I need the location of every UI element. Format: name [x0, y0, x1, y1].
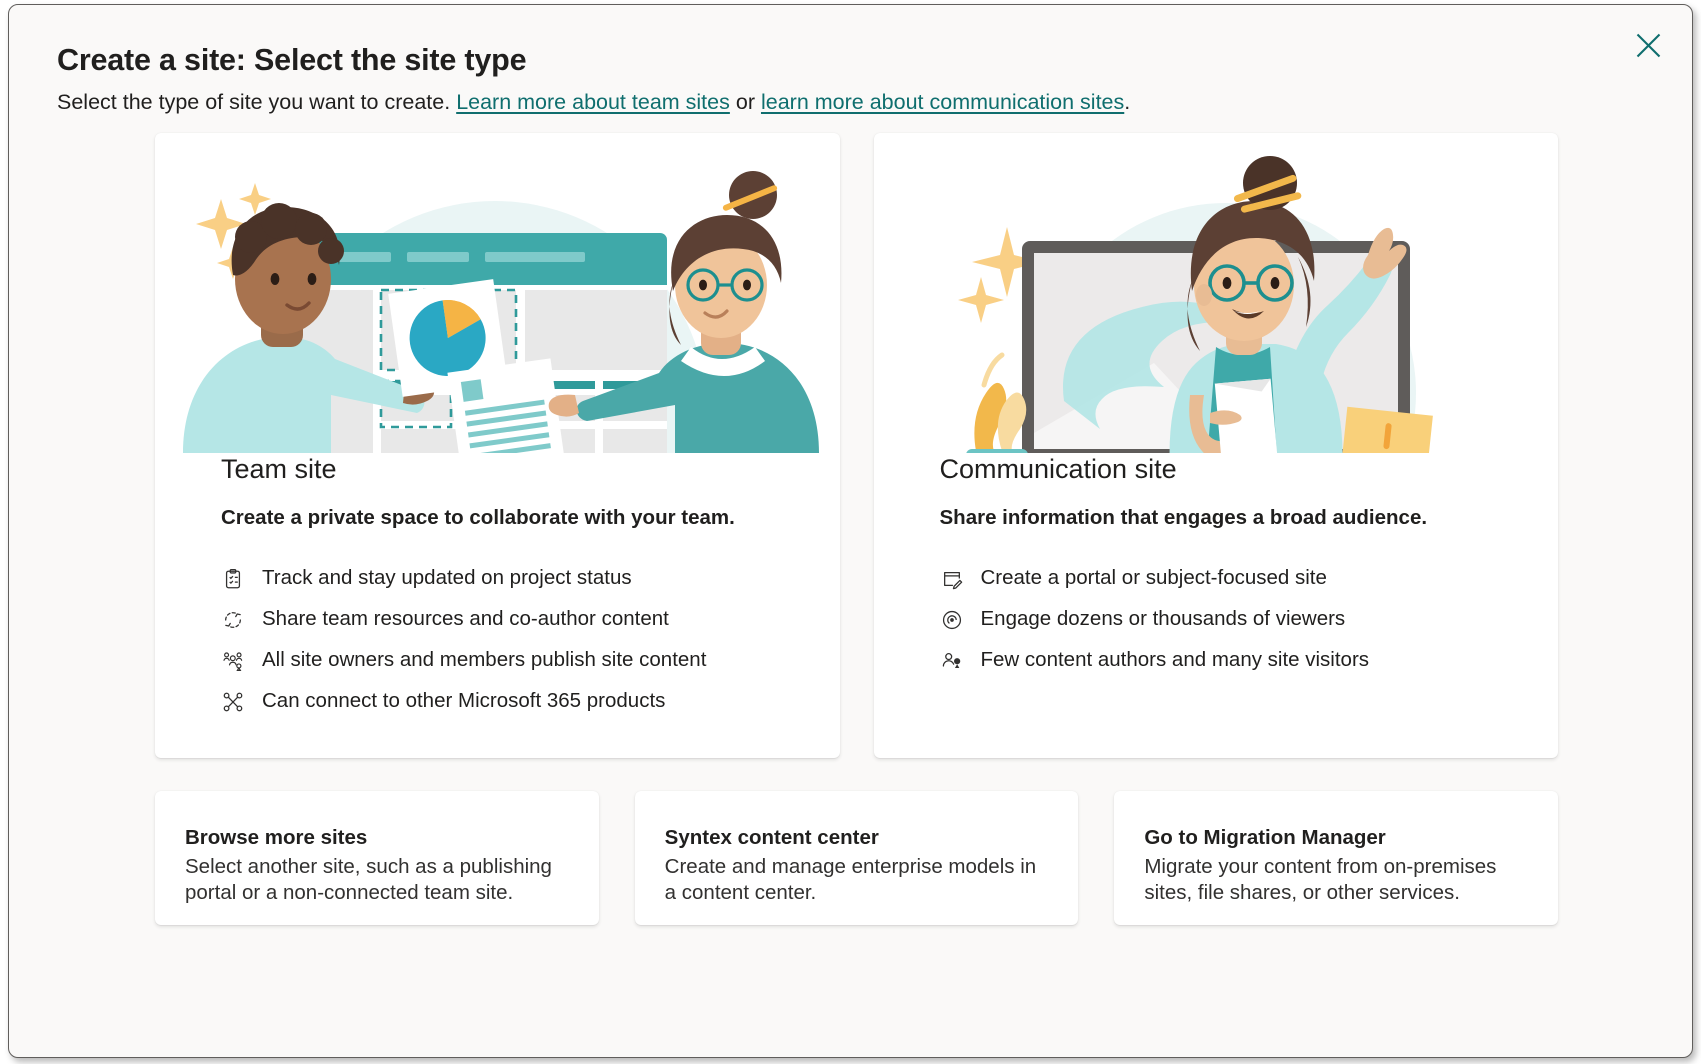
feature-list-communication-site: Create a portal or subject-focused site …: [940, 558, 1493, 681]
communication-site-card-body: Communication site Share information tha…: [874, 453, 1559, 681]
link-card-title: Go to Migration Manager: [1144, 825, 1528, 851]
team-site-illustration-wrap: [155, 133, 840, 453]
feature-label: Share team resources and co-author conte…: [262, 607, 669, 632]
link-card-title: Syntex content center: [665, 825, 1049, 851]
link-learn-more-team-sites[interactable]: Learn more about team sites: [456, 90, 730, 114]
connector-nodes-icon: [221, 690, 245, 714]
feature-item: Create a portal or subject-focused site: [940, 558, 1493, 599]
link-card-description: Create and manage enterprise models in a…: [665, 854, 1049, 906]
close-button[interactable]: [1624, 21, 1672, 69]
feature-label: Few content authors and many site visito…: [981, 648, 1370, 673]
dialog-header: Create a site: Select the site type Sele…: [57, 41, 1602, 117]
feature-label: All site owners and members publish site…: [262, 648, 706, 673]
feature-item: Few content authors and many site visito…: [940, 640, 1493, 681]
feature-list-team-site: Track and stay updated on project status: [221, 558, 774, 722]
feature-item: Can connect to other Microsoft 365 produ…: [221, 681, 774, 722]
feature-item: Share team resources and co-author conte…: [221, 599, 774, 640]
presenter-monitor-illustration: [874, 133, 1558, 453]
feature-item: Engage dozens or thousands of viewers: [940, 599, 1493, 640]
link-card-description: Migrate your content from on-premises si…: [1144, 854, 1528, 906]
dialog-subtitle: Select the type of site you want to crea…: [57, 88, 1602, 117]
feature-label: Can connect to other Microsoft 365 produ…: [262, 689, 665, 714]
link-card-title: Browse more sites: [185, 825, 569, 851]
site-type-card-row: Team site Create a private space to coll…: [155, 133, 1558, 758]
feature-item: Track and stay updated on project status: [221, 558, 774, 599]
page-title: Create a site: Select the site type: [57, 41, 1602, 79]
link-card-browse-more-sites[interactable]: Browse more sites Select another site, s…: [155, 791, 599, 925]
card-title-communication-site: Communication site: [940, 453, 1493, 485]
card-title-team-site: Team site: [221, 453, 774, 485]
subtitle-period: .: [1124, 90, 1130, 114]
subtitle-text: Select the type of site you want to crea…: [57, 90, 450, 114]
site-card-team-site[interactable]: Team site Create a private space to coll…: [155, 133, 840, 758]
broadcast-icon: [940, 608, 964, 632]
sync-circular-icon: [221, 608, 245, 632]
communication-site-illustration-wrap: [874, 133, 1559, 453]
card-tagline-communication-site: Share information that engages a broad a…: [940, 505, 1493, 532]
link-card-description: Select another site, such as a publishin…: [185, 854, 569, 906]
create-site-dialog: Create a site: Select the site type Sele…: [8, 4, 1693, 1058]
subtitle-conjunction: or: [736, 90, 755, 114]
team-site-card-body: Team site Create a private space to coll…: [155, 453, 840, 722]
card-tagline-team-site: Create a private space to collaborate wi…: [221, 505, 774, 532]
feature-item: All site owners and members publish site…: [221, 640, 774, 681]
feature-label: Engage dozens or thousands of viewers: [981, 607, 1346, 632]
person-badge-icon: [940, 649, 964, 673]
site-card-communication-site[interactable]: Communication site Share information tha…: [874, 133, 1559, 758]
feature-label: Create a portal or subject-focused site: [981, 566, 1327, 591]
people-group-icon: [221, 649, 245, 673]
clipboard-task-icon: [221, 567, 245, 591]
link-learn-more-communication-sites[interactable]: learn more about communication sites: [761, 90, 1124, 114]
team-collaboration-illustration: [155, 133, 839, 453]
secondary-options-row: Browse more sites Select another site, s…: [155, 791, 1558, 925]
link-card-go-to-migration-manager[interactable]: Go to Migration Manager Migrate your con…: [1114, 791, 1558, 925]
close-icon: [1635, 32, 1662, 59]
link-card-syntex-content-center[interactable]: Syntex content center Create and manage …: [635, 791, 1079, 925]
page-edit-icon: [940, 567, 964, 591]
feature-label: Track and stay updated on project status: [262, 566, 632, 591]
